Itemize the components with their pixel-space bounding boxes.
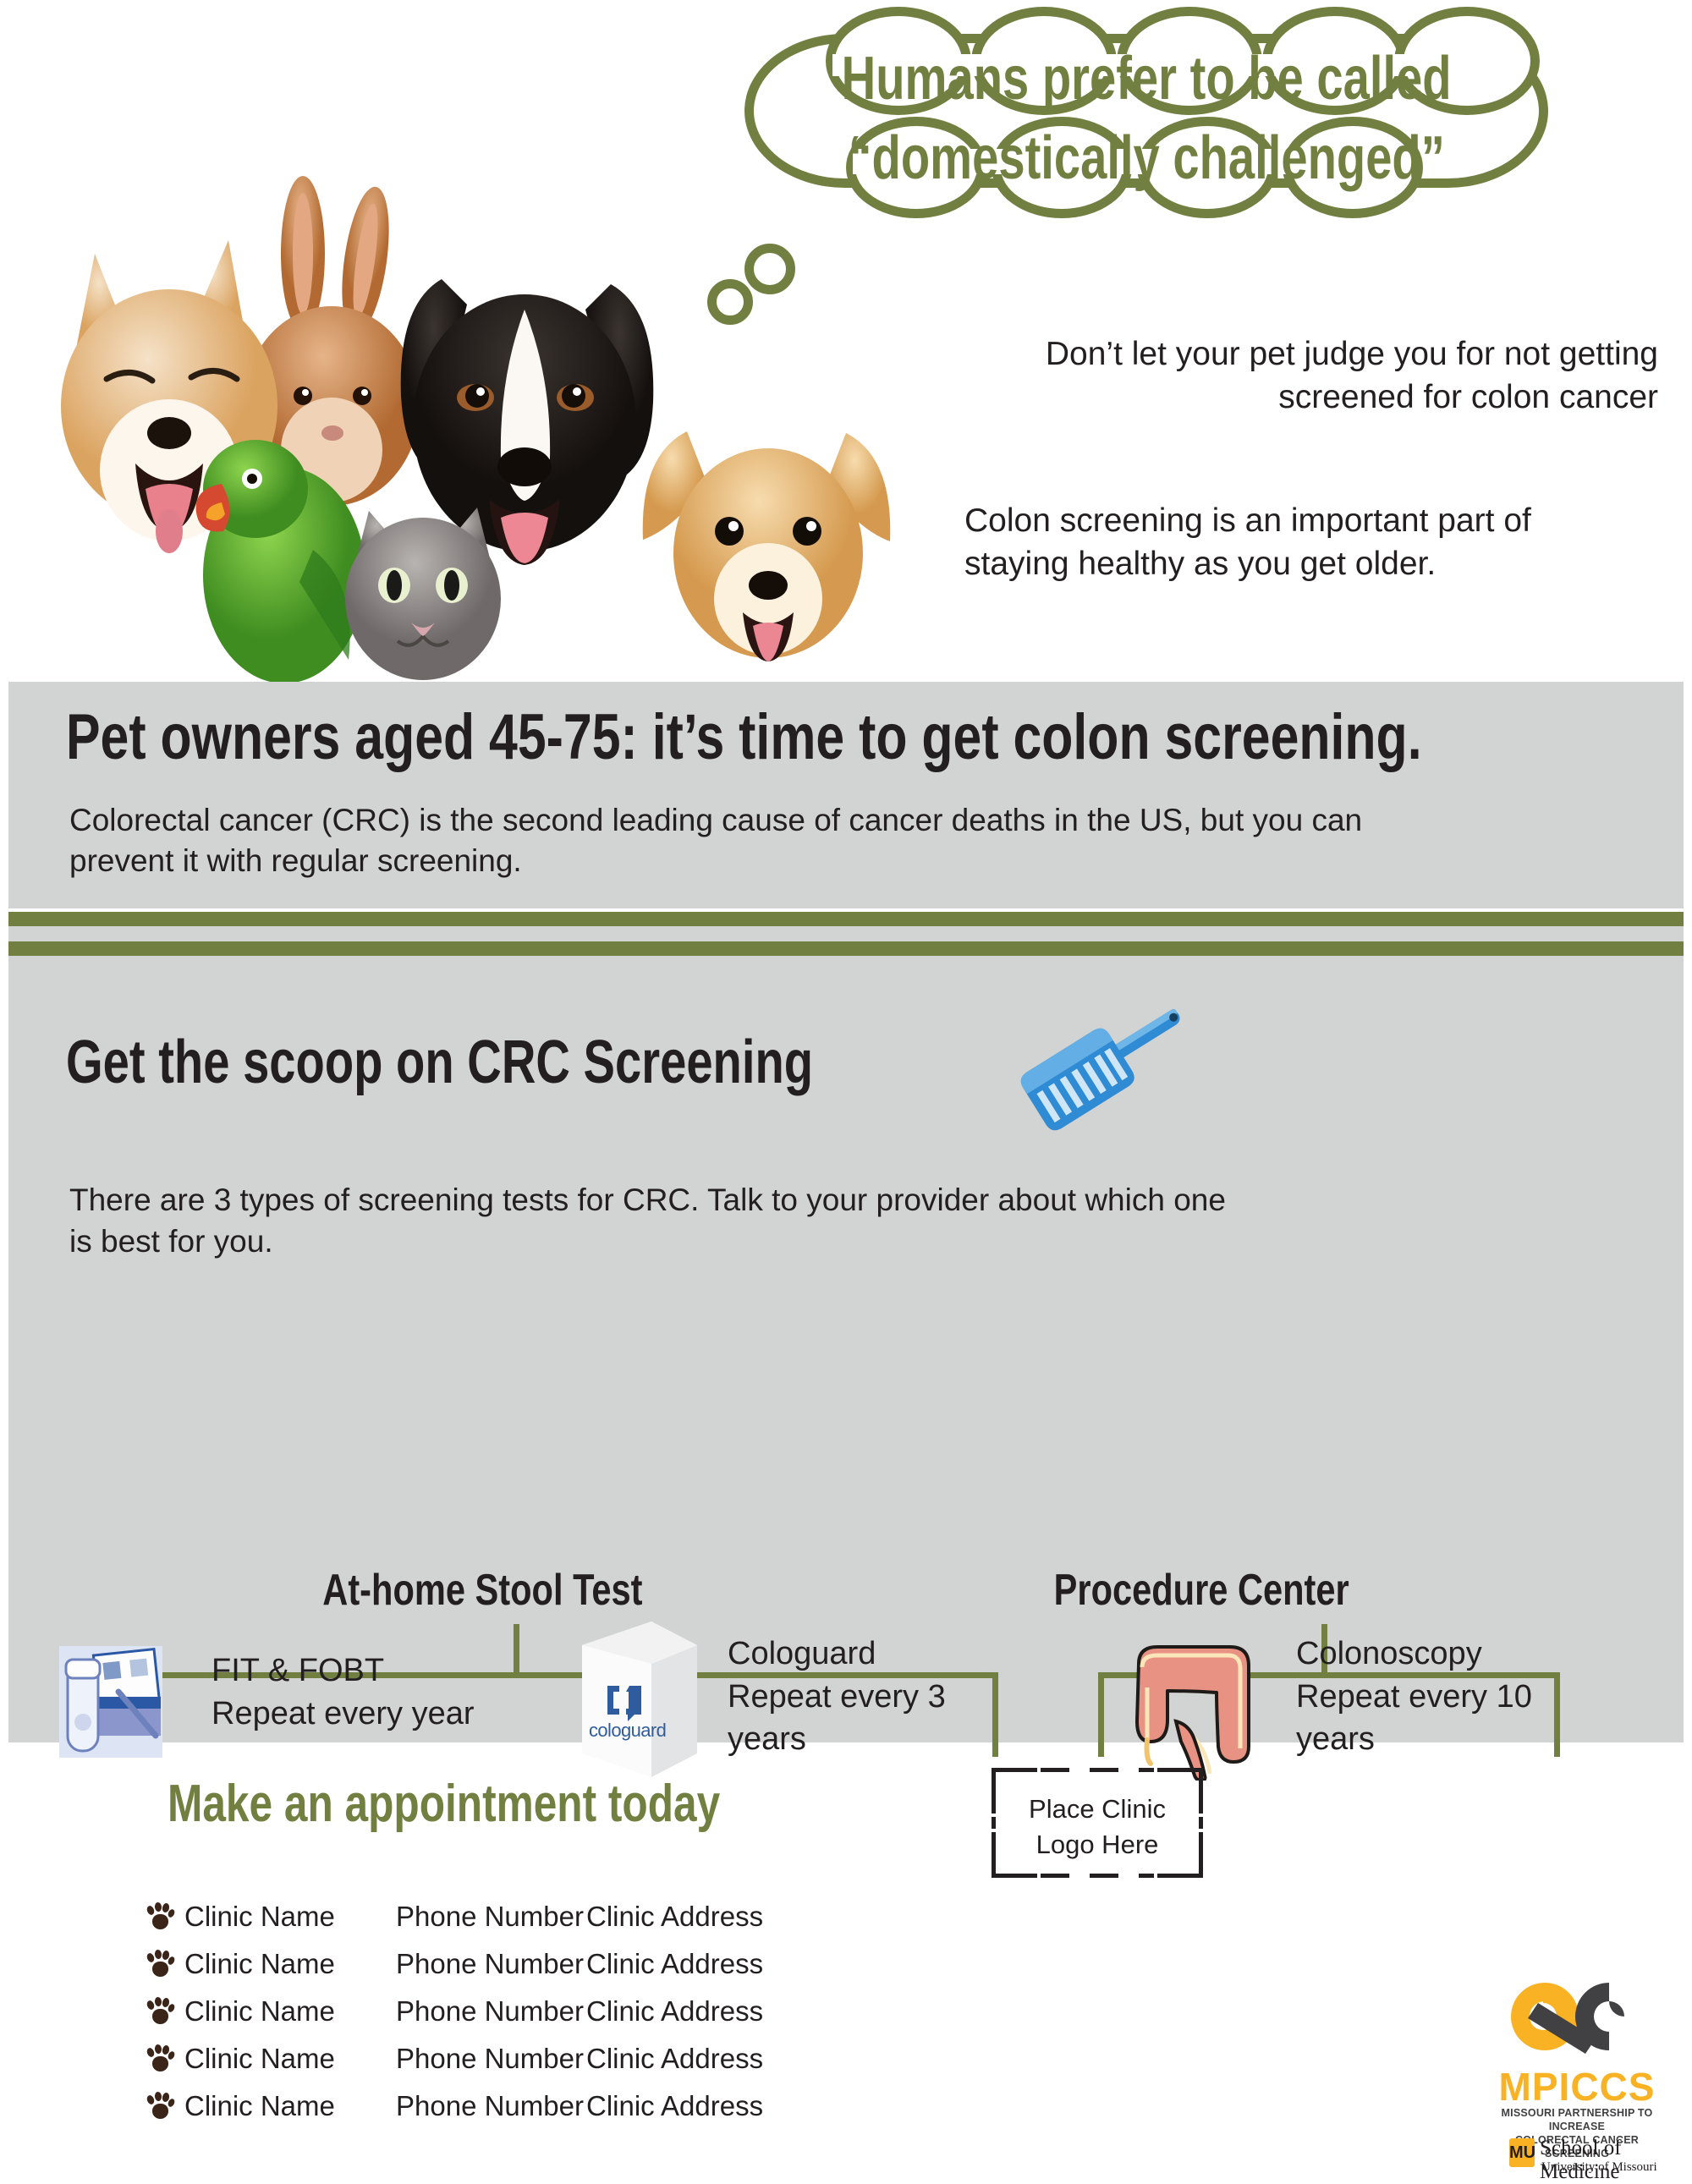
clinic-logo-placeholder[interactable]: Place Clinic Logo Here <box>992 1768 1203 1878</box>
group-title-at-home-text: At-home Stool Test <box>322 1565 642 1616</box>
test-label-cologuard: Cologuard Repeat every 3 years <box>728 1633 1015 1761</box>
group-title-procedure-text: Procedure Center <box>1053 1565 1349 1616</box>
paw-print-icon <box>146 1902 174 1931</box>
test-name-colonoscopy: Colonoscopy <box>1296 1633 1584 1676</box>
group-title-at-home: At-home Stool Test <box>245 1565 719 1616</box>
test-frequency-cologuard: Repeat every 3 years <box>728 1676 1015 1761</box>
bubble-line-1: Humans prefer to be called <box>744 44 1548 113</box>
clinic-phone: Phone Number <box>396 1995 586 2028</box>
pets-photo <box>34 152 981 685</box>
fit-test-kit-icon <box>52 1641 169 1764</box>
mpiccs-logo: MPICCS MISSOURI PARTNERSHIP TO INCREASE … <box>1487 1973 1684 2164</box>
rule-gap <box>8 926 1684 941</box>
bracket-leg-right-start <box>1098 1672 1104 1757</box>
clinic-list: Clinic Name Phone Number Clinic Address … <box>146 1893 949 2130</box>
paw-print-icon <box>146 2092 174 2121</box>
appointment-heading-text: Make an appointment today <box>168 1774 720 1834</box>
mpiccs-acronym: MPICCS <box>1487 2064 1667 2110</box>
clinic-phone: Phone Number <box>396 2043 586 2075</box>
screening-section: Get the scoop on CRC Screening There are… <box>8 956 1684 1742</box>
appointment-heading: Make an appointment today <box>168 1774 858 1834</box>
screening-headline-text: Get the scoop on CRC Screening <box>66 1028 813 1097</box>
clinic-phone: Phone Number <box>396 2090 586 2122</box>
placeholder-edge <box>1041 1768 1154 1772</box>
test-label-colonoscopy: Colonoscopy Repeat every 10 years <box>1296 1633 1584 1761</box>
clinic-row: Clinic Name Phone Number Clinic Address <box>146 1988 949 2035</box>
clinic-address: Clinic Address <box>586 2090 806 2122</box>
placeholder-line-1: Place Clinic <box>992 1792 1203 1827</box>
clinic-address: Clinic Address <box>586 2043 806 2075</box>
age-banner: Pet owners aged 45-75: it’s time to get … <box>8 682 1684 908</box>
clinic-row: Clinic Name Phone Number Clinic Address <box>146 1940 949 1988</box>
cologuard-box-icon: cologuard <box>570 1611 709 1789</box>
placeholder-line-2: Logo Here <box>992 1827 1203 1863</box>
clinic-address: Clinic Address <box>586 1948 806 1980</box>
clinic-name: Clinic Name <box>184 2090 396 2122</box>
test-name-cologuard: Cologuard <box>728 1633 1015 1676</box>
university-label: University of Missouri <box>1541 2160 1657 2175</box>
test-name-fit: FIT & FOBT <box>211 1649 550 1693</box>
clinic-address: Clinic Address <box>586 1901 806 1933</box>
mpiccs-tagline-1: MISSOURI PARTNERSHIP TO INCREASE <box>1487 2106 1667 2133</box>
test-frequency-colonoscopy: Repeat every 10 years <box>1296 1676 1584 1761</box>
paw-print-icon <box>146 1950 174 1978</box>
divider-rule-top <box>8 912 1684 926</box>
clinic-name: Clinic Name <box>184 2043 396 2075</box>
clinic-name: Clinic Name <box>184 1901 396 1933</box>
svg-text:cologuard: cologuard <box>589 1720 666 1741</box>
paw-print-icon <box>146 1997 174 2026</box>
hero-paragraph-1: Don’t let your pet judge you for not get… <box>956 333 1658 419</box>
screening-intro: There are 3 types of screening tests for… <box>69 1180 1254 1263</box>
group-title-procedure: Procedure Center <box>922 1565 1480 1616</box>
banner-headline-text: Pet owners aged 45-75: it’s time to get … <box>66 700 1422 774</box>
clinic-phone: Phone Number <box>396 1948 586 1980</box>
mu-mark-icon: MU <box>1509 2138 1535 2167</box>
clinic-row: Clinic Name Phone Number Clinic Address <box>146 2035 949 2082</box>
hero-section: Humans prefer to be called “domestically… <box>0 0 1692 685</box>
clinic-phone: Phone Number <box>396 1901 586 1933</box>
clinic-name: Clinic Name <box>184 1995 396 2028</box>
clinic-address: Clinic Address <box>586 1995 806 2028</box>
litter-scoop-icon <box>1007 990 1201 1142</box>
banner-headline: Pet owners aged 45-75: it’s time to get … <box>66 700 1692 774</box>
screening-headline: Get the scoop on CRC Screening <box>66 1028 1024 1097</box>
banner-subtext: Colorectal cancer (CRC) is the second le… <box>69 800 1423 881</box>
paw-print-icon <box>146 2044 174 2073</box>
placeholder-edge <box>1041 1874 1154 1878</box>
clinic-row: Clinic Name Phone Number Clinic Address <box>146 1893 949 1940</box>
clinic-row: Clinic Name Phone Number Clinic Address <box>146 2082 949 2130</box>
clinic-name: Clinic Name <box>184 1948 396 1980</box>
bubble-line-1-text: Humans prefer to be called <box>842 44 1452 113</box>
hero-paragraph-2: Colon screening is an important part of … <box>964 500 1607 585</box>
pets-illustration <box>34 152 981 685</box>
divider-rule-bottom <box>8 941 1684 956</box>
test-frequency-fit: Repeat every year <box>211 1693 550 1736</box>
colon-anatomy-icon <box>1117 1628 1277 1781</box>
mpiccs-mark-icon <box>1487 1973 1667 2061</box>
test-label-fit: FIT & FOBT Repeat every year <box>211 1649 550 1735</box>
placeholder-text: Place Clinic Logo Here <box>992 1792 1203 1863</box>
